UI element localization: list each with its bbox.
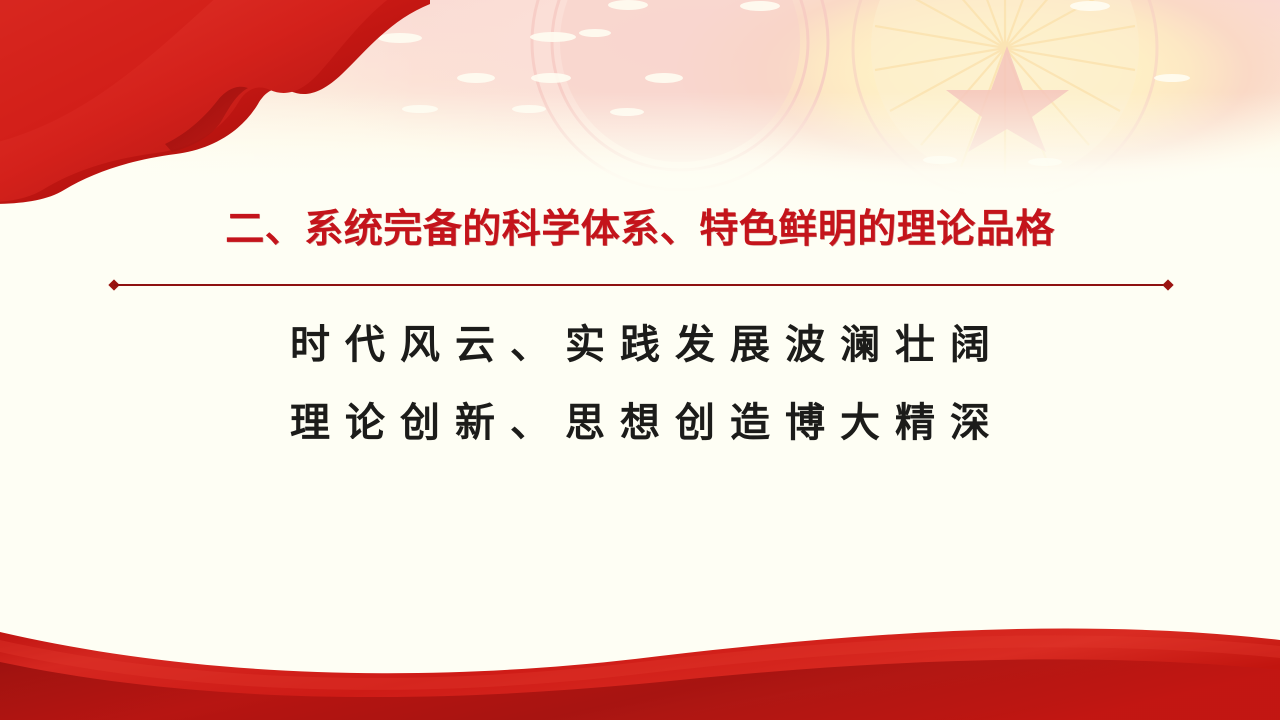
- title-block: 二、系统完备的科学体系、特色鲜明的理论品格: [0, 204, 1280, 256]
- sunburst-icon: [790, 0, 1220, 200]
- gear-badge-outline-icon: [470, 0, 890, 200]
- divider-line: [114, 284, 1168, 286]
- slide-canvas: 二、系统完备的科学体系、特色鲜明的理论品格 时代风云、实践发展波澜壮阔 理论创新…: [0, 0, 1280, 720]
- calligraphy-line-2: 理论创新、思想创造博大精深: [0, 384, 1280, 462]
- body-text-block: 时代风云、实践发展波澜壮阔 理论创新、思想创造博大精深: [0, 306, 1280, 462]
- red-flag-ribbon-icon: [0, 0, 430, 204]
- title-divider: [110, 281, 1172, 289]
- red-wave-ribbon-icon: [0, 600, 1280, 720]
- five-pointed-star-icon: [945, 32, 1070, 152]
- divider-right-diamond-icon: [1162, 279, 1173, 290]
- page-title: 二、系统完备的科学体系、特色鲜明的理论品格: [0, 204, 1280, 256]
- calligraphy-line-1: 时代风云、实践发展波澜壮阔: [0, 306, 1280, 384]
